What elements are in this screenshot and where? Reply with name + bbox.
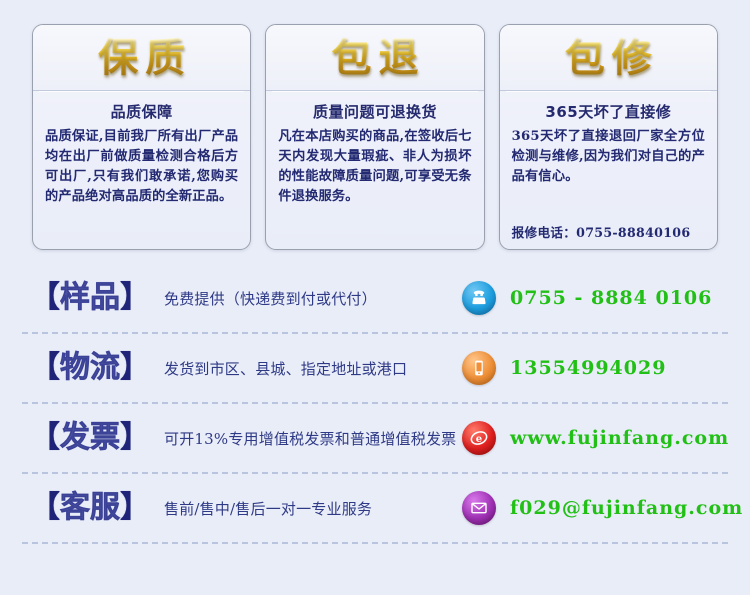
card-description: 365天坏了直接退回厂家全方位检测与维修,因为我们对自己的产品有信心。 xyxy=(512,127,705,187)
guarantee-card-repair: 包修 365天坏了直接修 365天坏了直接退回厂家全方位检测与维修,因为我们对自… xyxy=(499,24,718,250)
guarantee-card-return: 包退 质量问题可退换货 凡在本店购买的商品,在签收后七天内发现大量瑕疵、非人为损… xyxy=(265,24,484,250)
guarantee-cards-row: 保质 品质保障 品质保证,目前我厂所有出厂产品均在出厂前做质量检测合格后方可出厂… xyxy=(0,0,750,250)
mobile-phone-icon xyxy=(462,351,496,385)
info-row-invoice: 【发票】 可开13%专用增值税发票和普通增值税发票 e www.fujinfan… xyxy=(22,404,728,474)
row-left-customer-service: 【客服】 售前/售中/售后一对一专业服务 xyxy=(22,493,462,523)
bracket-open: 【 xyxy=(30,420,60,455)
row-label-invoice: 【发票】 xyxy=(30,423,150,453)
row-description-sample: 免费提供（快递费到付或代付） xyxy=(164,288,377,309)
contact-email[interactable]: f029@fujinfang.com xyxy=(510,497,743,519)
row-description-customer-service: 售前/售中/售后一对一专业服务 xyxy=(164,498,372,519)
row-label-text: 物流 xyxy=(60,350,120,385)
card-header: 包修 xyxy=(500,25,717,91)
card-header: 包退 xyxy=(266,25,483,91)
row-right-invoice: e www.fujinfang.com xyxy=(462,421,729,455)
card-description: 品质保证,目前我厂所有出厂产品均在出厂前做质量检测合格后方可出厂,只有我们敢承诺… xyxy=(45,127,238,207)
card-gold-title: 包退 xyxy=(324,38,425,78)
row-right-customer-service: f029@fujinfang.com xyxy=(462,491,743,525)
bracket-close: 】 xyxy=(120,280,150,315)
bracket-open: 【 xyxy=(30,490,60,525)
card-header: 保质 xyxy=(33,25,250,91)
card-body: 365天坏了直接修 365天坏了直接退回厂家全方位检测与维修,因为我们对自己的产… xyxy=(500,91,717,249)
card-gold-title: 保质 xyxy=(91,38,192,78)
card-subtitle: 365天坏了直接修 xyxy=(512,101,705,122)
row-label-text: 客服 xyxy=(60,490,120,525)
internet-explorer-icon: e xyxy=(462,421,496,455)
row-left-logistics: 【物流】 发货到市区、县城、指定地址或港口 xyxy=(22,353,462,383)
bracket-close: 】 xyxy=(120,350,150,385)
card-body: 品质保障 品质保证,目前我厂所有出厂产品均在出厂前做质量检测合格后方可出厂,只有… xyxy=(33,91,250,249)
row-left-invoice: 【发票】 可开13%专用增值税发票和普通增值税发票 xyxy=(22,423,462,453)
row-label-customer-service: 【客服】 xyxy=(30,493,150,523)
repair-hotline-note: 报修电话：0755-88840106 xyxy=(512,214,705,241)
row-description-logistics: 发货到市区、县城、指定地址或港口 xyxy=(164,358,407,379)
row-right-logistics: 13554994029 xyxy=(462,351,666,385)
contact-phone[interactable]: 0755 - 8884 0106 xyxy=(510,287,712,309)
service-info-list: 【样品】 免费提供（快递费到付或代付） 0755 - 8884 0106 【物流… xyxy=(0,250,750,544)
bracket-close: 】 xyxy=(120,490,150,525)
row-description-invoice: 可开13%专用增值税发票和普通增值税发票 xyxy=(164,428,456,449)
card-body: 质量问题可退换货 凡在本店购买的商品,在签收后七天内发现大量瑕疵、非人为损坏的性… xyxy=(266,91,483,249)
row-label-text: 发票 xyxy=(60,420,120,455)
row-label-logistics: 【物流】 xyxy=(30,353,150,383)
info-row-logistics: 【物流】 发货到市区、县城、指定地址或港口 13554994029 xyxy=(22,334,728,404)
guarantee-card-quality: 保质 品质保障 品质保证,目前我厂所有出厂产品均在出厂前做质量检测合格后方可出厂… xyxy=(32,24,251,250)
card-description: 凡在本店购买的商品,在签收后七天内发现大量瑕疵、非人为损坏的性能故障质量问题,可… xyxy=(278,127,471,207)
telephone-icon xyxy=(462,281,496,315)
card-subtitle: 质量问题可退换货 xyxy=(278,101,471,122)
row-right-sample: 0755 - 8884 0106 xyxy=(462,281,712,315)
row-label-text: 样品 xyxy=(60,280,120,315)
row-label-sample: 【样品】 xyxy=(30,283,150,313)
row-left-sample: 【样品】 免费提供（快递费到付或代付） xyxy=(22,283,462,313)
bracket-open: 【 xyxy=(30,280,60,315)
envelope-icon xyxy=(462,491,496,525)
card-gold-title: 包修 xyxy=(558,38,659,78)
bracket-close: 】 xyxy=(120,420,150,455)
contact-mobile[interactable]: 13554994029 xyxy=(510,357,666,379)
svg-text:e: e xyxy=(476,434,482,445)
contact-website[interactable]: www.fujinfang.com xyxy=(510,427,729,449)
info-row-sample: 【样品】 免费提供（快递费到付或代付） 0755 - 8884 0106 xyxy=(22,264,728,334)
info-row-customer-service: 【客服】 售前/售中/售后一对一专业服务 f029@fujinfang.com xyxy=(22,474,728,544)
card-subtitle: 品质保障 xyxy=(45,101,238,122)
bracket-open: 【 xyxy=(30,350,60,385)
